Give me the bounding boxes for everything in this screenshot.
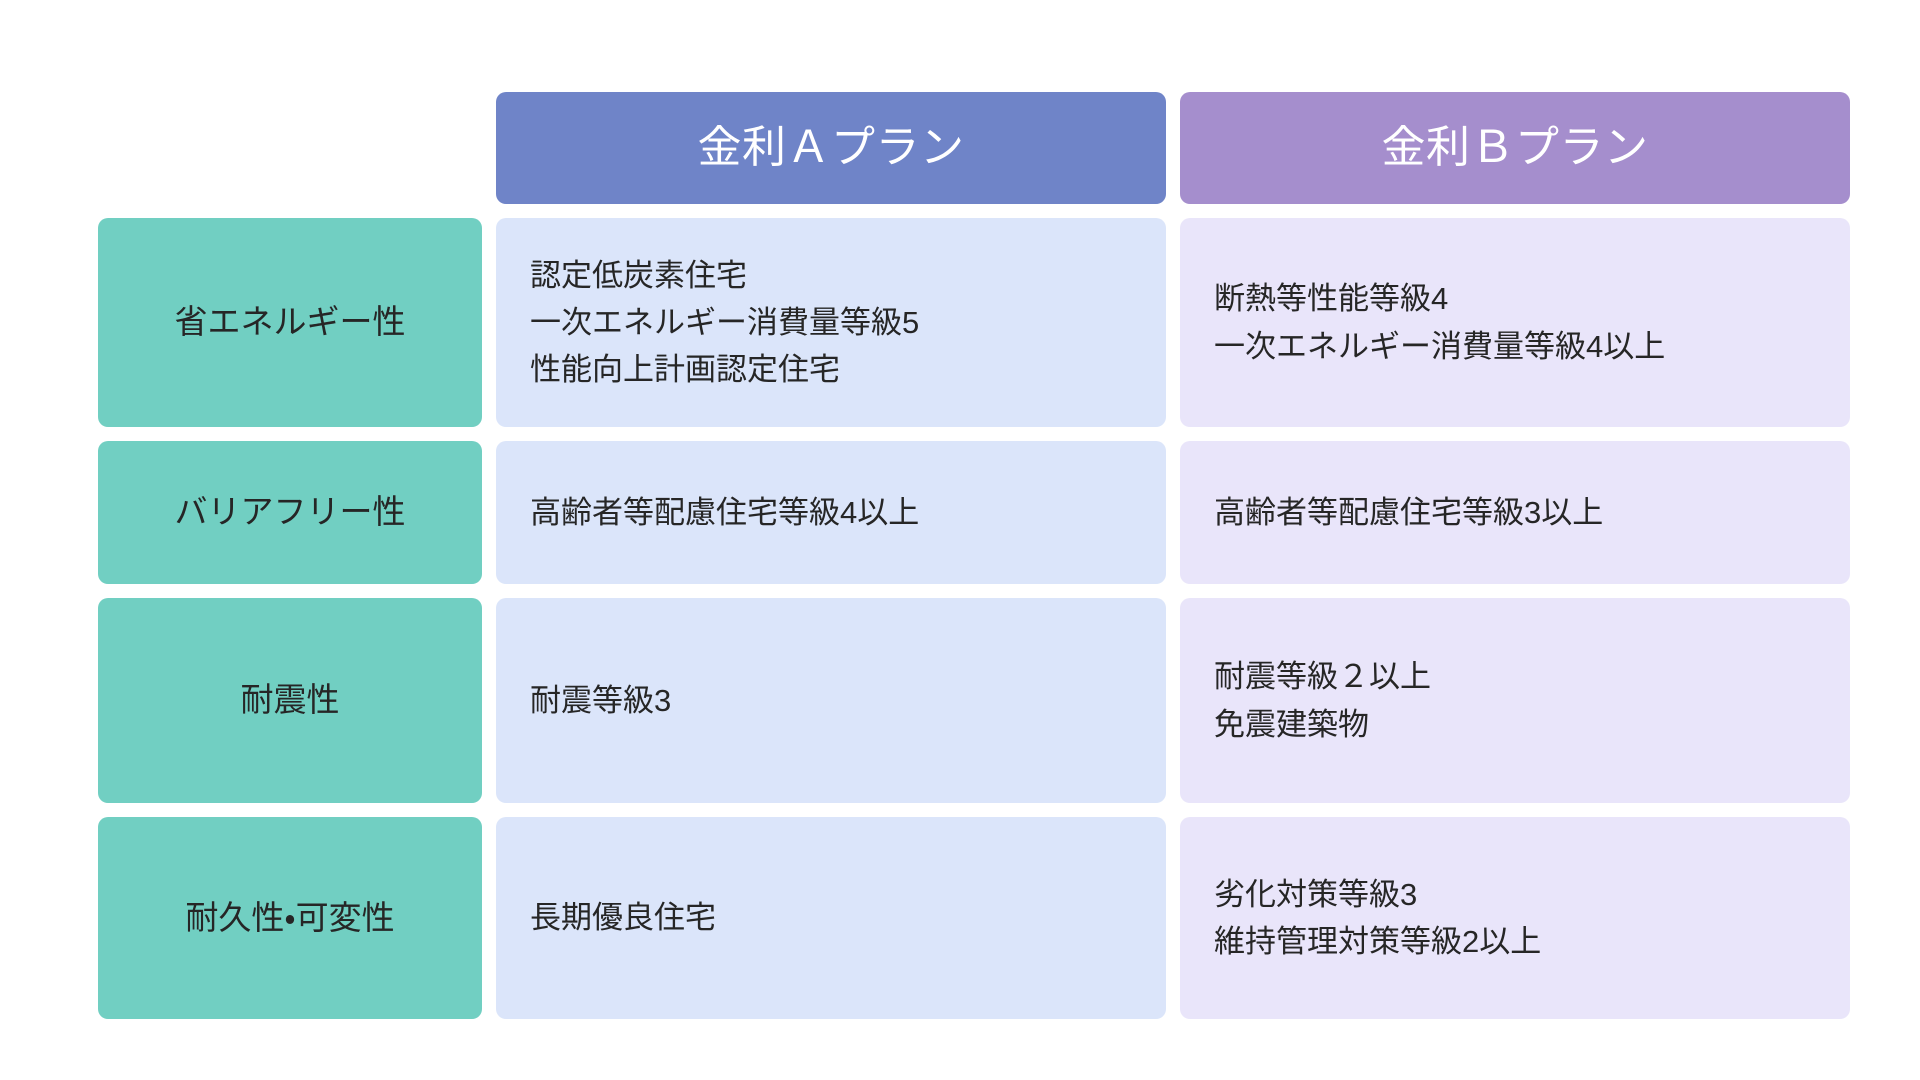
cell-energy-saving-plan-b: 断熱等性能等級4 一次エネルギー消費量等級4以上	[1180, 218, 1850, 427]
column-header-plan-a-label: 金利Ａプラン	[698, 126, 965, 170]
cell-earthquake-resistance-plan-b: 耐震等級２以上 免震建築物	[1180, 598, 1850, 803]
cell-line: 一次エネルギー消費量等級4以上	[1214, 323, 1816, 370]
cell-line: 長期優良住宅	[530, 894, 1132, 941]
cell-line: 耐震等級２以上	[1214, 653, 1816, 700]
cell-line: 認定低炭素住宅	[530, 252, 1132, 299]
row-label-energy-saving: 省エネルギー性	[98, 218, 482, 427]
plan-comparison-table: 金利Ａプラン 金利Ｂプラン 省エネルギー性 認定低炭素住宅 一次エネルギー消費量…	[0, 0, 1920, 1080]
column-header-plan-b-label: 金利Ｂプラン	[1382, 126, 1649, 170]
cell-barrier-free-plan-a: 高齢者等配慮住宅等級4以上	[496, 441, 1166, 584]
cell-line: 断熱等性能等級4	[1214, 275, 1816, 322]
cell-durability-variability-plan-b: 劣化対策等級3 維持管理対策等級2以上	[1180, 817, 1850, 1019]
cell-earthquake-resistance-plan-a: 耐震等級3	[496, 598, 1166, 803]
row-label-earthquake-resistance: 耐震性	[98, 598, 482, 803]
row-label-text: 耐久性・可変性	[185, 896, 394, 941]
row-label-durability-variability: 耐久性・可変性	[98, 817, 482, 1019]
row-label-text: 耐震性	[241, 678, 340, 723]
cell-line: 維持管理対策等級2以上	[1214, 918, 1816, 965]
cell-line: 一次エネルギー消費量等級5	[530, 299, 1132, 346]
cell-barrier-free-plan-b: 高齢者等配慮住宅等級3以上	[1180, 441, 1850, 584]
comparison-grid: 金利Ａプラン 金利Ｂプラン 省エネルギー性 認定低炭素住宅 一次エネルギー消費量…	[98, 92, 1823, 1019]
cell-line: 高齢者等配慮住宅等級3以上	[1214, 489, 1816, 536]
cell-line: 免震建築物	[1214, 701, 1816, 748]
row-label-text: バリアフリー性	[175, 490, 406, 535]
row-label-barrier-free: バリアフリー性	[98, 441, 482, 584]
column-header-plan-a: 金利Ａプラン	[496, 92, 1166, 204]
table-corner-cell	[98, 92, 482, 204]
row-label-text: 省エネルギー性	[175, 300, 406, 345]
column-header-plan-b: 金利Ｂプラン	[1180, 92, 1850, 204]
cell-energy-saving-plan-a: 認定低炭素住宅 一次エネルギー消費量等級5 性能向上計画認定住宅	[496, 218, 1166, 427]
cell-line: 高齢者等配慮住宅等級4以上	[530, 489, 1132, 536]
cell-durability-variability-plan-a: 長期優良住宅	[496, 817, 1166, 1019]
cell-line: 劣化対策等級3	[1214, 871, 1816, 918]
cell-line: 性能向上計画認定住宅	[530, 346, 1132, 393]
cell-line: 耐震等級3	[530, 677, 1132, 724]
